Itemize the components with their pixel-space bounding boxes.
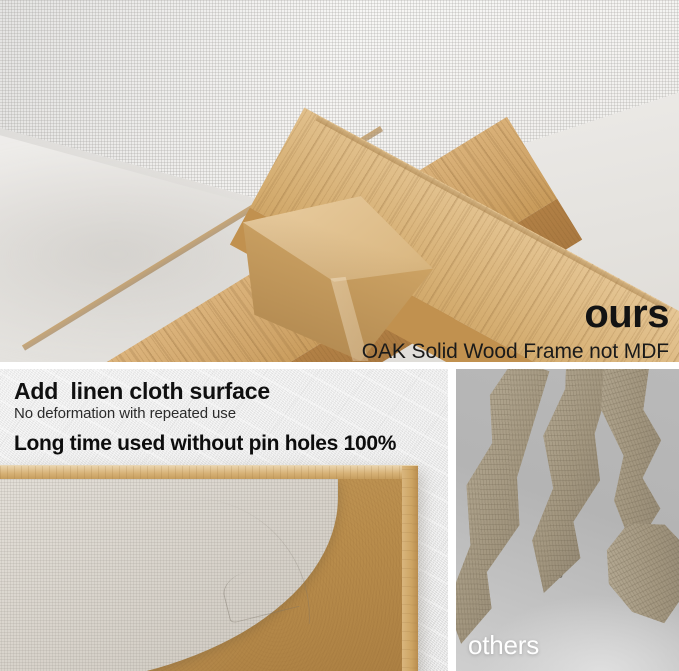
pin-holes-claim: Long time used without pin holes 100% — [14, 432, 396, 456]
board-frame-right-rail — [402, 466, 418, 671]
ours-caption-block: ours OAK Solid Wood Frame not MDF — [362, 294, 669, 362]
ours-subheadline: OAK Solid Wood Frame not MDF — [362, 341, 669, 362]
product-infographic: ours OAK Solid Wood Frame not MDF Add li… — [0, 0, 679, 671]
linen-caption-block: Add linen cloth surface No deformation w… — [14, 379, 270, 422]
panel-others-mdf: others — [456, 369, 679, 671]
others-label: others — [468, 630, 539, 661]
linen-subheading: No deformation with repeated use — [14, 406, 270, 422]
board-frame-top-rail — [0, 466, 418, 479]
panel-divider-horizontal — [0, 362, 679, 369]
linen-peel-edge — [189, 498, 316, 624]
panel-ours: ours OAK Solid Wood Frame not MDF — [0, 0, 679, 362]
linen-heading: Add linen cloth surface — [14, 379, 270, 404]
panel-divider-vertical — [448, 362, 456, 671]
ours-headline: ours — [362, 294, 669, 334]
cork-board-framed — [0, 465, 418, 671]
